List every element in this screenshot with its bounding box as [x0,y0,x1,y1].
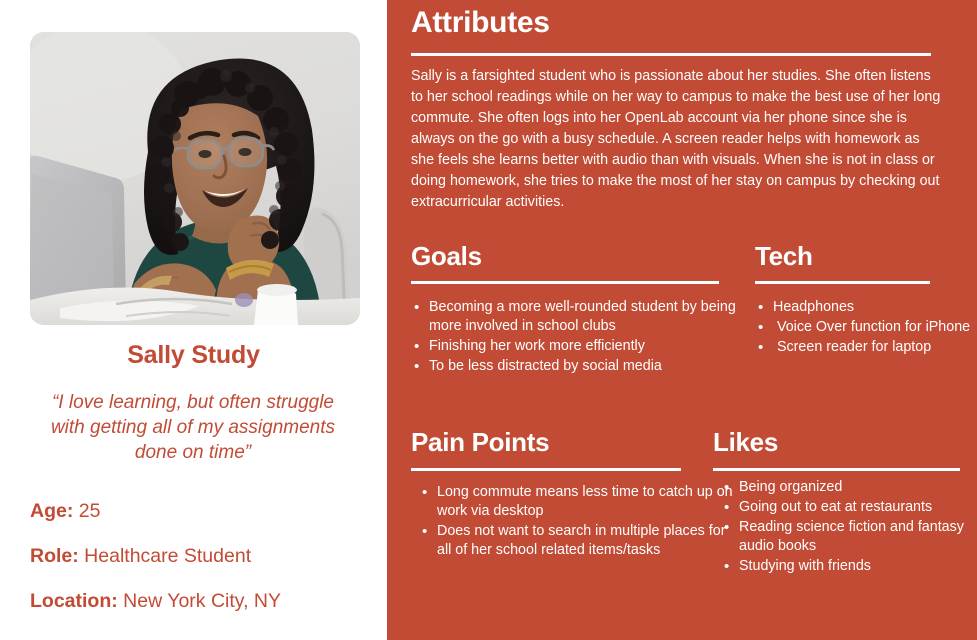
persona-facts-list: Age: 25 Role: Healthcare Student Locatio… [30,500,380,613]
section-title-goals: Goals [411,243,482,269]
fact-row-location: Location: New York City, NY [30,590,380,613]
list-item: Does not want to search in multiple plac… [437,522,737,560]
section-title-attributes: Attributes [411,8,550,38]
persona-photo [30,32,360,325]
persona-portrait-illustration [30,32,360,325]
section-divider-tech [755,281,930,284]
list-item: Studying with friends [739,557,977,576]
fact-value-location: New York City, NY [118,590,281,612]
fact-label-age: Age: [30,500,73,522]
section-divider-goals [411,281,719,284]
list-item: Voice Over function for iPhone [773,318,977,337]
list-item: Long commute means less time to catch up… [437,483,737,521]
persona-details-panel: Attributes Sally is a farsighted student… [387,0,977,640]
fact-value-role: Healthcare Student [79,545,251,567]
section-title-tech: Tech [755,243,813,269]
persona-quote: “I love learning, but often struggle wit… [38,390,348,465]
section-title-pain-points: Pain Points [411,429,549,455]
fact-row-role: Role: Healthcare Student [30,545,380,568]
list-item: Headphones [773,298,977,317]
tech-list: Headphones Voice Over function for iPhon… [757,298,977,358]
attributes-paragraph: Sally is a farsighted student who is pas… [411,66,946,213]
fact-value-age: 25 [73,500,100,522]
section-title-likes: Likes [713,429,778,455]
list-item: Finishing her work more efficiently [429,337,759,356]
pain-points-list: Long commute means less time to catch up… [421,483,737,561]
section-divider-pain-points [411,468,681,471]
persona-card: Sally Study “I love learning, but often … [0,0,977,640]
goals-list: Becoming a more well-rounded student by … [413,298,759,377]
list-item: Screen reader for laptop [773,338,977,357]
persona-profile-panel: Sally Study “I love learning, but often … [0,0,387,640]
likes-list: Being organized Going out to eat at rest… [723,478,977,577]
fact-label-role: Role: [30,545,79,567]
fact-row-age: Age: 25 [30,500,380,523]
persona-name: Sally Study [0,341,387,370]
list-item: To be less distracted by social media [429,357,759,376]
list-item: Being organized [739,478,977,497]
fact-label-location: Location: [30,590,118,612]
section-divider-attributes [411,53,931,56]
list-item: Going out to eat at restaurants [739,498,977,517]
list-item: Becoming a more well-rounded student by … [429,298,759,336]
list-item: Reading science fiction and fantasy audi… [739,518,977,556]
section-divider-likes [713,468,960,471]
